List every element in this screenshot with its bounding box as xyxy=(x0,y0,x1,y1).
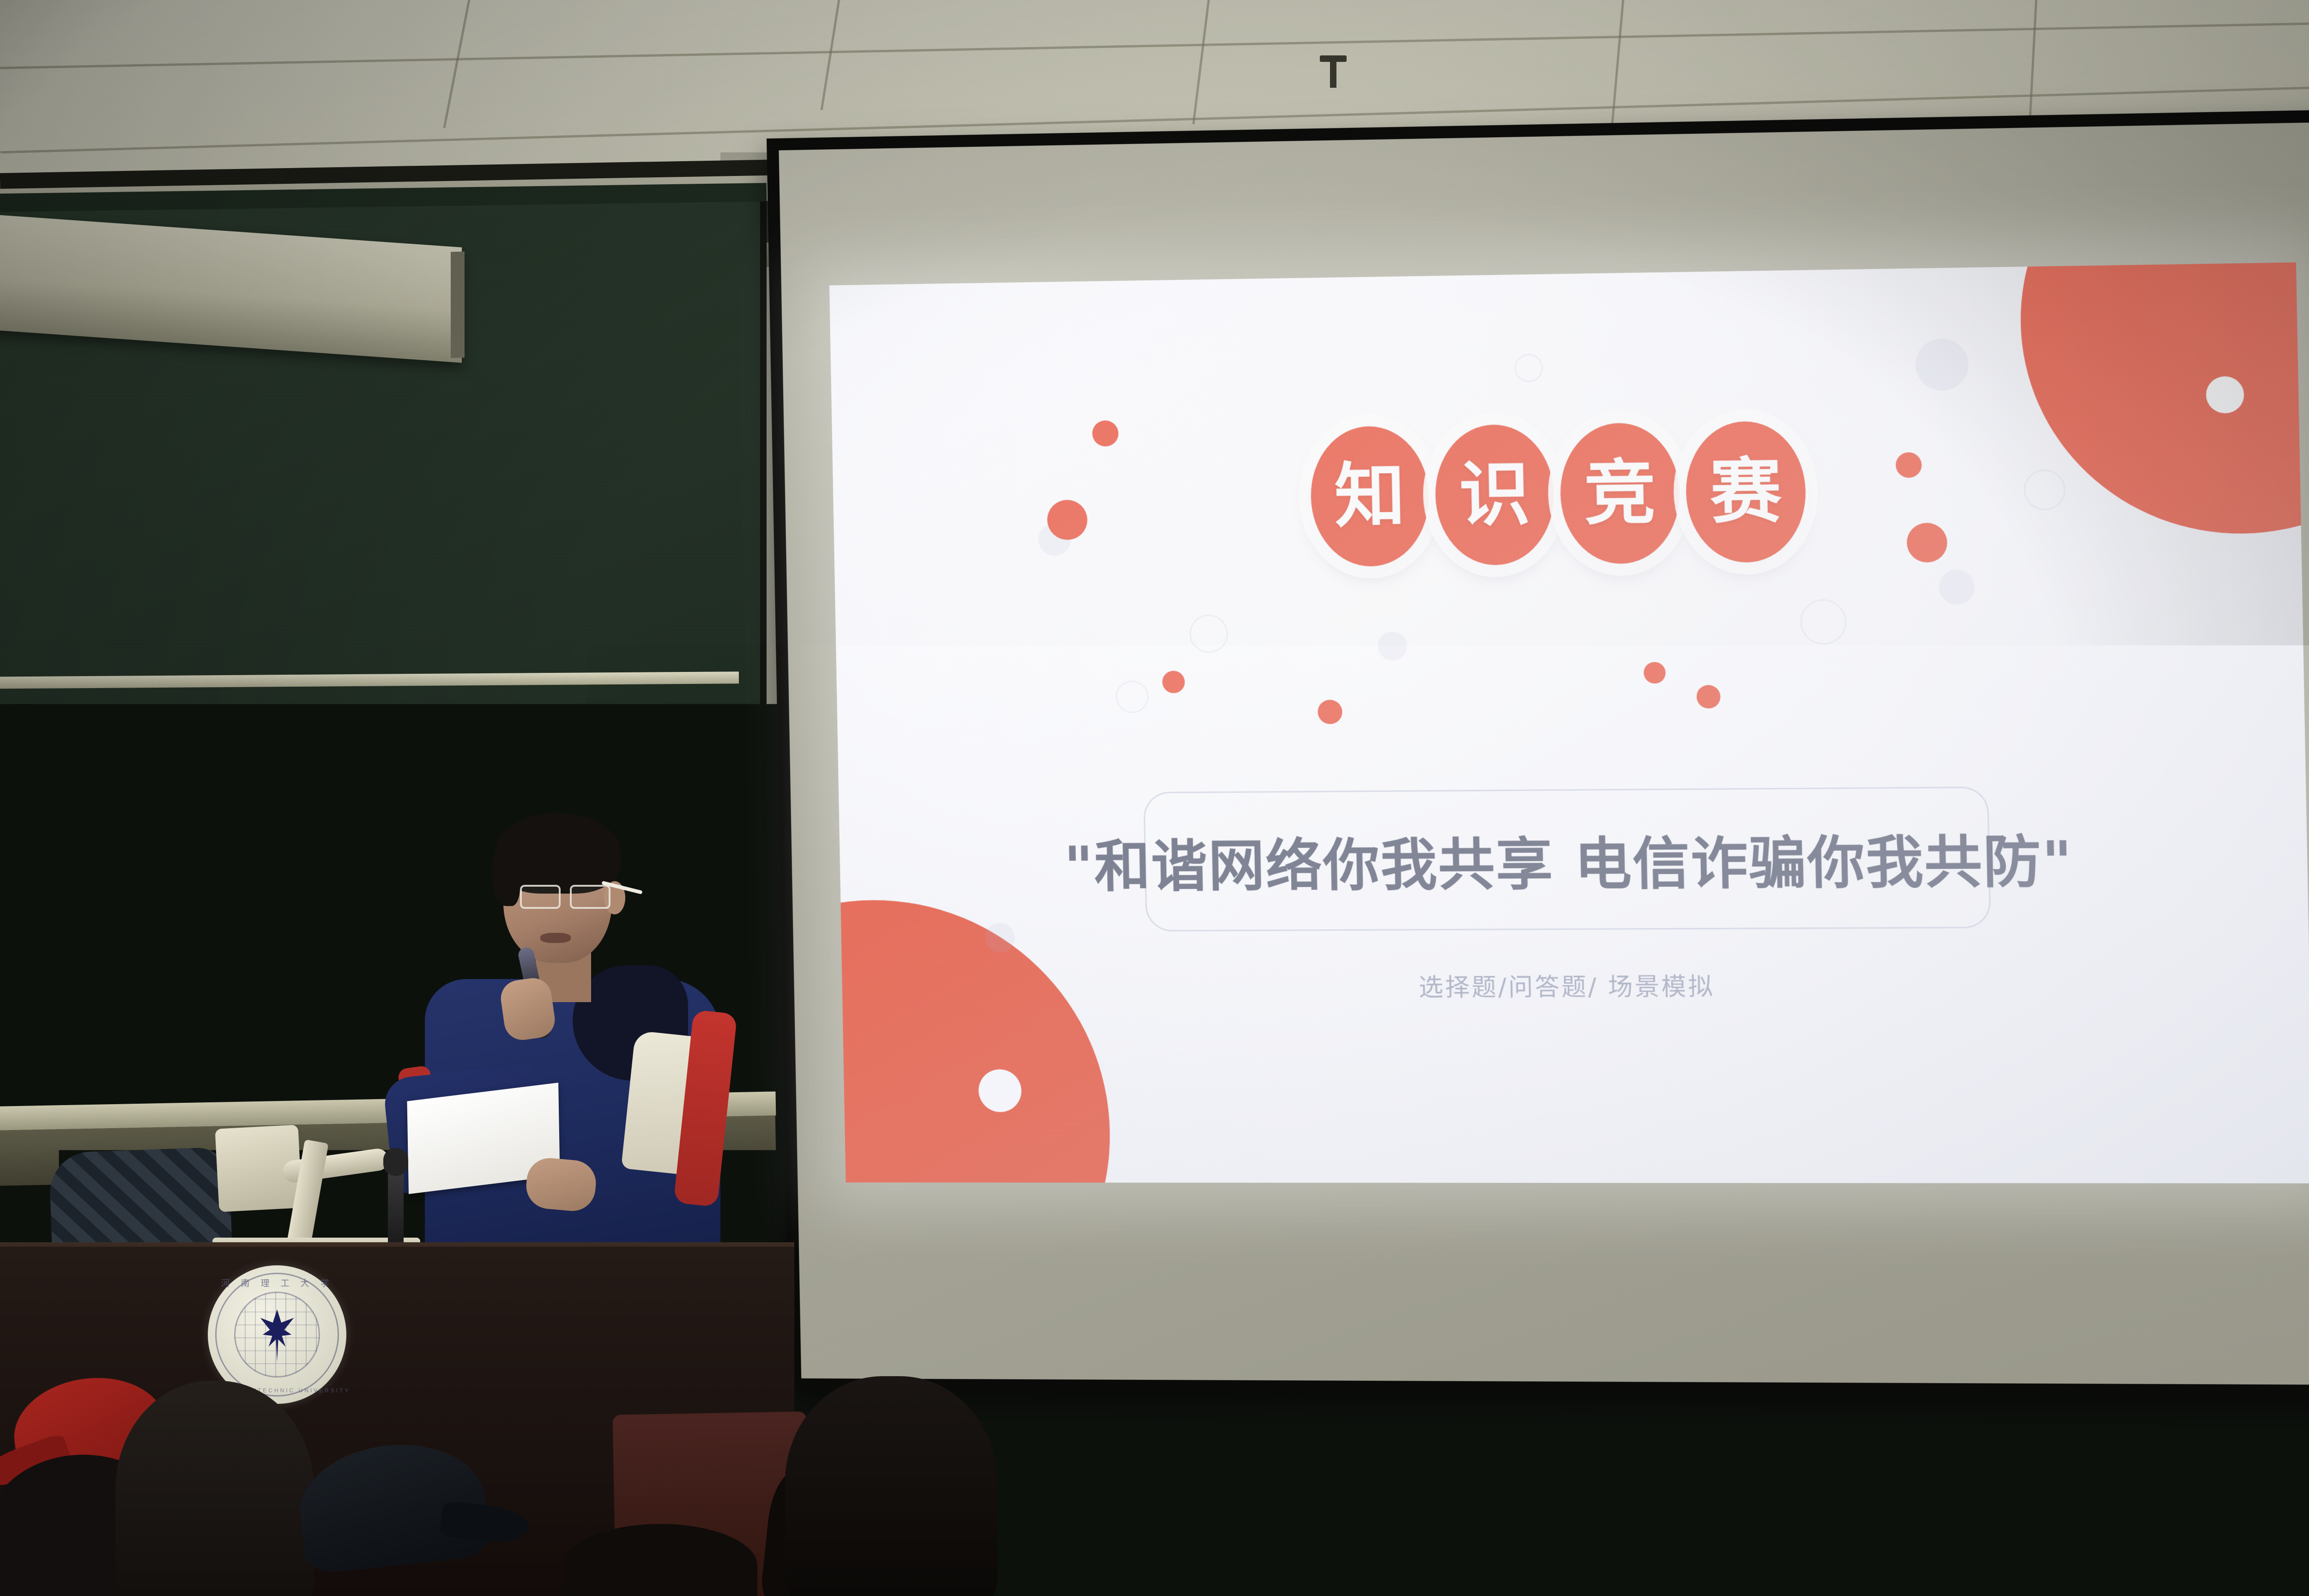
audience-head xyxy=(785,1376,997,1596)
presenter xyxy=(388,794,739,1256)
ceiling-grid-line xyxy=(821,0,845,110)
chalk-rail xyxy=(0,671,739,689)
accent-dot xyxy=(1644,662,1666,683)
audience-head xyxy=(115,1381,314,1596)
title-char-3: 竞 xyxy=(1584,458,1656,529)
ghost-circle xyxy=(1116,680,1149,713)
title-char-chip-1: 知 xyxy=(1310,426,1430,567)
ceiling-grid-line xyxy=(443,0,474,128)
presenter-hand-holding-mic xyxy=(498,976,557,1042)
slide-subtitle-pill: "和谐网络你我共享 电信诈骗你我共防" xyxy=(1143,786,1991,931)
ghost-circle xyxy=(1939,569,1975,605)
slide-title: 知 识 竞 赛 xyxy=(1310,421,1807,567)
emblem-chinese-text: 河 南 理 工 大 学 xyxy=(221,1276,333,1289)
projected-slide: 知 识 竞 赛 "和谐网络你我共享 电信诈骗你我共防" 选择题/问答题/ 场景模… xyxy=(829,262,2309,1183)
accent-dot xyxy=(1162,671,1185,693)
accent-dot xyxy=(1696,685,1721,708)
accent-dot xyxy=(1906,523,1947,563)
title-char-2: 识 xyxy=(1458,459,1531,531)
presenter-mouth xyxy=(540,933,571,943)
classroom-photo-scene: 知 识 竞 赛 "和谐网络你我共享 电信诈骗你我共防" 选择题/问答题/ 场景模… xyxy=(0,0,2309,1596)
projector-screen: 知 识 竞 赛 "和谐网络你我共享 电信诈骗你我共防" 选择题/问答题/ 场景模… xyxy=(767,109,2309,1397)
title-char-chip-2: 识 xyxy=(1434,424,1555,566)
accent-dot xyxy=(1318,700,1342,724)
ceiling-mount-hook xyxy=(1330,60,1336,88)
title-char-chip-4: 赛 xyxy=(1685,421,1807,563)
ceiling-grid-line xyxy=(2029,0,2037,120)
slide-subtitle-text: "和谐网络你我共享 电信诈骗你我共防" xyxy=(1064,816,2074,903)
corner-dot-bottom-left xyxy=(978,1070,1022,1112)
ghost-circle xyxy=(1189,615,1228,653)
glasses-icon xyxy=(520,885,610,906)
ceiling-grid-line xyxy=(1610,0,1625,134)
presenter-hand-holding-paper xyxy=(524,1156,598,1213)
ceiling-grid-line xyxy=(1192,0,1212,124)
title-char-4: 赛 xyxy=(1709,456,1782,527)
title-char-1: 知 xyxy=(1334,461,1406,532)
ghost-circle xyxy=(1378,631,1408,660)
ceiling-grid-line xyxy=(0,21,2309,69)
slide-tagline: 选择题/问答题/ 场景模拟 xyxy=(1418,967,1715,1003)
title-char-chip-3: 竞 xyxy=(1559,422,1680,564)
audience-head xyxy=(1284,1367,1459,1519)
ghost-circle xyxy=(985,923,1015,953)
phoenix-bird-icon xyxy=(247,1305,307,1365)
ghost-circle xyxy=(1800,599,1847,645)
